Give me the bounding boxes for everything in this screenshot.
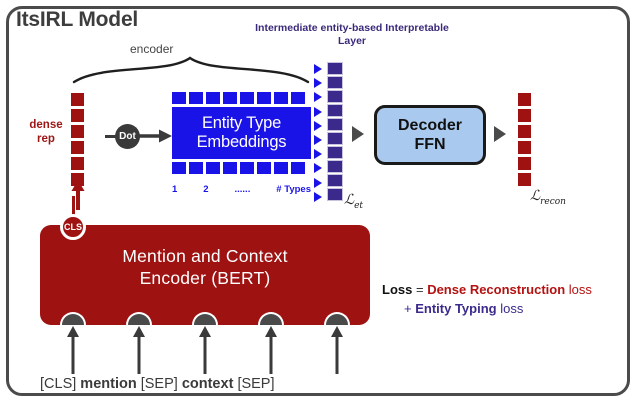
ete-cell bbox=[189, 92, 203, 104]
arrow-to-decoder-icon bbox=[352, 126, 364, 142]
interpretable-arrow-icon bbox=[314, 135, 322, 145]
encoder-brace-icon bbox=[72, 56, 312, 84]
token-input-arrow-icon bbox=[132, 326, 146, 374]
ete-label-line2: Embeddings bbox=[197, 133, 287, 152]
interpretable-layer-caption: Intermediate entity-based Interpretable … bbox=[252, 22, 452, 47]
page-title: ItsIRL Model bbox=[16, 8, 138, 32]
ete-tick: 2 bbox=[203, 184, 208, 195]
token-node bbox=[126, 312, 152, 325]
arrow-to-reconstruction-icon bbox=[494, 126, 506, 142]
ete-cell bbox=[223, 92, 237, 104]
token-label: context bbox=[182, 376, 234, 392]
loss-term-entity-tail: loss bbox=[500, 301, 523, 316]
entity-type-embeddings-top-row bbox=[172, 92, 311, 104]
dot-operator: Dot bbox=[115, 124, 140, 149]
dense-rep-column bbox=[70, 92, 85, 187]
token-label: [SEP] bbox=[237, 376, 274, 392]
decoder-label-line1: Decoder bbox=[398, 116, 462, 135]
dense-rep-cell bbox=[70, 124, 85, 139]
ete-cell bbox=[172, 92, 186, 104]
bert-encoder-label: Mention and Context Encoder (BERT) bbox=[122, 245, 287, 289]
token-label: mention bbox=[80, 376, 136, 392]
cls-token-node: CLS bbox=[60, 214, 86, 240]
reconstruction-cell bbox=[517, 140, 532, 155]
l-recon-symbol: ℒ bbox=[530, 188, 540, 204]
ete-cell bbox=[240, 92, 254, 104]
loss-formula: Loss = Dense Reconstruction loss + Entit… bbox=[382, 280, 632, 318]
interpretable-cell bbox=[327, 132, 343, 145]
dense-rep-cell bbox=[70, 156, 85, 171]
bert-label-line2: Encoder (BERT) bbox=[140, 268, 271, 288]
interpretable-cell bbox=[327, 174, 343, 187]
loss-term-dense-tail: loss bbox=[569, 282, 592, 297]
interpretable-cell bbox=[327, 76, 343, 89]
ete-label-line1: Entity Type bbox=[202, 114, 281, 133]
loss-formula-label: Loss bbox=[382, 282, 412, 297]
interpretable-cell bbox=[327, 146, 343, 159]
bert-encoder-box: Mention and Context Encoder (BERT) bbox=[40, 225, 370, 325]
interpretable-layer-column bbox=[327, 62, 343, 201]
entity-type-embeddings-label: Entity Type Embeddings bbox=[172, 107, 311, 159]
reconstruction-cell bbox=[517, 108, 532, 123]
interpretable-cell bbox=[327, 104, 343, 117]
interpretable-arrow-icon bbox=[314, 178, 322, 188]
interpretable-arrow-icon bbox=[314, 107, 322, 117]
interpretable-arrow-icon bbox=[314, 163, 322, 173]
ete-cell bbox=[206, 92, 220, 104]
loss-formula-plus: + bbox=[404, 301, 412, 316]
cls-connector-line bbox=[72, 196, 75, 216]
ete-cell bbox=[257, 92, 271, 104]
entity-type-embeddings-block: Entity Type Embeddings bbox=[172, 92, 311, 174]
token-node bbox=[192, 312, 218, 325]
ete-cell bbox=[240, 162, 254, 174]
encoder-label: encoder bbox=[130, 42, 173, 56]
token-node bbox=[258, 312, 284, 325]
interpretable-arrow-icon bbox=[314, 192, 322, 202]
dense-rep-label-line2: rep bbox=[37, 133, 55, 145]
reconstruction-cell bbox=[517, 92, 532, 107]
interpretable-arrow-icon bbox=[314, 78, 322, 88]
l-et-symbol: ℒ bbox=[344, 192, 354, 208]
ete-cell bbox=[206, 162, 220, 174]
reconstruction-column bbox=[517, 92, 532, 187]
dense-rep-cell bbox=[70, 92, 85, 107]
ete-cell bbox=[291, 162, 305, 174]
entity-type-embeddings-bottom-row bbox=[172, 162, 311, 174]
interpretable-layer-arrows bbox=[314, 64, 322, 202]
decoder-ffn-box: Decoder FFN bbox=[374, 105, 486, 165]
reconstruction-loss-label: ℒrecon bbox=[530, 188, 566, 207]
reconstruction-cell bbox=[517, 156, 532, 171]
ete-cell bbox=[189, 162, 203, 174]
loss-formula-line2: + Entity Typing loss bbox=[382, 299, 632, 318]
ete-cell bbox=[274, 162, 288, 174]
interpretable-arrow-icon bbox=[314, 92, 322, 102]
loss-term-dense-reconstruction: Dense Reconstruction bbox=[427, 282, 565, 297]
interpretable-cell bbox=[327, 188, 343, 201]
token-input-arrow-icon bbox=[330, 326, 344, 374]
token-label: [SEP] bbox=[141, 376, 178, 392]
reconstruction-cell bbox=[517, 124, 532, 139]
entity-typing-loss-label: ℒet bbox=[344, 192, 363, 211]
dense-rep-label: dense rep bbox=[20, 118, 72, 146]
dot-output-arrow-icon bbox=[139, 128, 173, 144]
interpretable-cell bbox=[327, 160, 343, 173]
interpretable-cell bbox=[327, 90, 343, 103]
ete-cell bbox=[257, 162, 271, 174]
token-input-arrow-icon bbox=[198, 326, 212, 374]
l-et-subscript: et bbox=[354, 201, 363, 211]
ete-tick: # Types bbox=[276, 184, 311, 195]
interpretable-cell bbox=[327, 118, 343, 131]
token-node bbox=[60, 312, 86, 325]
interpretable-cell bbox=[327, 62, 343, 75]
dense-rep-cell bbox=[70, 140, 85, 155]
ete-cell bbox=[291, 92, 305, 104]
token-label: [CLS] bbox=[40, 376, 76, 392]
loss-formula-equals: = bbox=[416, 282, 424, 297]
dense-rep-cell bbox=[70, 108, 85, 123]
token-node bbox=[324, 312, 350, 325]
ete-cell bbox=[274, 92, 288, 104]
token-input-arrow-icon bbox=[264, 326, 278, 374]
reconstruction-cell bbox=[517, 172, 532, 187]
ete-tick: ...... bbox=[235, 184, 251, 195]
token-input-arrow-icon bbox=[66, 326, 80, 374]
bert-label-line1: Mention and Context bbox=[122, 246, 287, 266]
decoder-label-line2: FFN bbox=[414, 135, 445, 154]
l-recon-subscript: recon bbox=[540, 197, 566, 207]
diagram-canvas: ItsIRL Model Intermediate entity-based I… bbox=[0, 0, 640, 406]
ete-cell bbox=[172, 162, 186, 174]
interpretable-arrow-icon bbox=[314, 121, 322, 131]
dense-rep-label-line1: dense bbox=[29, 119, 62, 131]
interpretable-arrow-icon bbox=[314, 149, 322, 159]
interpretable-arrow-icon bbox=[314, 64, 322, 74]
ete-tick: 1 bbox=[172, 184, 177, 195]
token-labels-row: [CLS] mention [SEP] context [SEP] bbox=[40, 376, 370, 392]
ete-cell bbox=[223, 162, 237, 174]
entity-type-axis-ticks: 1 2 ...... # Types bbox=[172, 184, 311, 195]
loss-term-entity-typing: Entity Typing bbox=[415, 301, 496, 316]
